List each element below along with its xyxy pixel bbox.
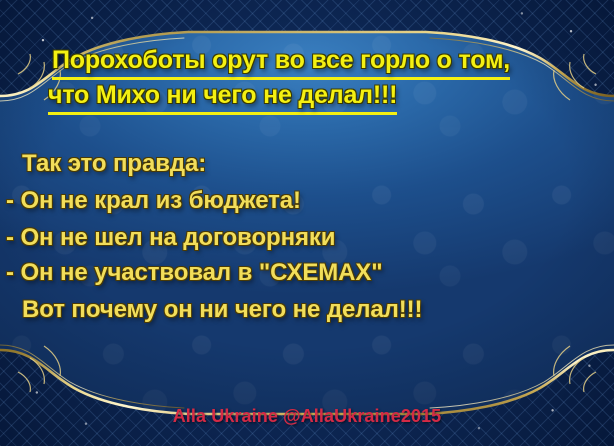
heading-line-1: Порохоботы орут во все горло о том, <box>52 46 510 80</box>
meme-text-content: Порохоботы орут во все горло о том, что … <box>0 0 614 446</box>
body-line-5: Вот почему он ни чего не делал!!! <box>22 296 422 324</box>
heading-line-2: что Михо ни чего не делал!!! <box>48 81 397 115</box>
heading-line-1-text: Порохоботы орут во все горло о том, <box>52 46 510 80</box>
watermark-credit: Alla Ukraine @AllaUkraine2015 <box>0 406 614 427</box>
body-line-2: - Он не крал из бюджета! <box>6 187 301 215</box>
body-line-3: - Он не шел на договорняки <box>6 224 335 252</box>
meme-image: Порохоботы орут во все горло о том, что … <box>0 0 614 446</box>
heading-line-2-text: что Михо ни чего не делал!!! <box>48 81 397 115</box>
body-line-4: - Он не участвовал в "СХЕМАХ" <box>6 259 383 287</box>
body-line-1: Так это правда: <box>22 150 206 178</box>
